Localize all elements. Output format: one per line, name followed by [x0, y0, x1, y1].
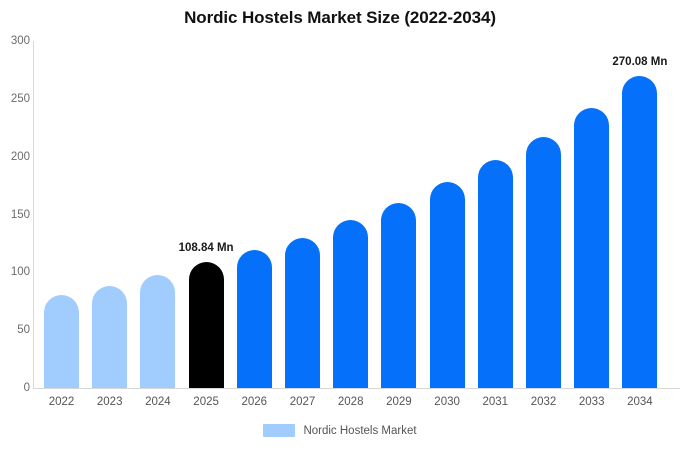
y-axis-tick-label: 100	[4, 266, 30, 278]
bar-2032[interactable]	[526, 137, 561, 388]
legend-swatch-icon	[263, 424, 295, 437]
y-axis-tick-labels: 050100150200250300	[0, 0, 30, 450]
bar-2027[interactable]	[285, 238, 320, 388]
chart-title: Nordic Hostels Market Size (2022-2034)	[0, 8, 680, 28]
x-axis-tick-label-2026: 2026	[237, 396, 272, 408]
legend-item-label: Nordic Hostels Market	[303, 425, 416, 437]
bar-chart: Nordic Hostels Market Size (2022-2034) 0…	[0, 0, 680, 450]
x-axis-tick-label-2028: 2028	[333, 396, 368, 408]
x-axis-tick-label-2027: 2027	[285, 396, 320, 408]
x-axis-tick-label-2032: 2032	[526, 396, 561, 408]
bar-2030[interactable]	[430, 182, 465, 388]
x-axis-tick-label-2024: 2024	[140, 396, 175, 408]
bar-2022[interactable]	[44, 295, 79, 388]
bar-2029[interactable]	[381, 203, 416, 388]
y-axis-tick-label: 200	[4, 151, 30, 163]
bar-2033[interactable]	[574, 108, 609, 388]
x-axis-tick-label-2030: 2030	[430, 396, 465, 408]
plot-area	[33, 41, 680, 388]
data-label-2025: 108.84 Mn	[166, 242, 246, 254]
y-axis-tick-label: 0	[4, 382, 30, 394]
x-axis-tick-label-2031: 2031	[478, 396, 513, 408]
bar-2025[interactable]	[189, 262, 224, 388]
bar-2034[interactable]	[622, 76, 657, 388]
x-axis-tick-label-2029: 2029	[381, 396, 416, 408]
bar-2031[interactable]	[478, 160, 513, 388]
bar-2024[interactable]	[140, 275, 175, 388]
bar-2023[interactable]	[92, 286, 127, 388]
chart-legend: Nordic Hostels Market	[0, 424, 680, 437]
x-axis-tick-label-2022: 2022	[44, 396, 79, 408]
bar-2028[interactable]	[333, 220, 368, 388]
x-axis-tick-label-2025: 2025	[189, 396, 224, 408]
x-axis-tick-label-2033: 2033	[574, 396, 609, 408]
bar-2026[interactable]	[237, 250, 272, 388]
y-axis-tick-label: 250	[4, 93, 30, 105]
y-axis-tick-label: 50	[4, 324, 30, 336]
y-axis-tick-label: 300	[4, 35, 30, 47]
x-axis-line	[33, 388, 680, 389]
x-axis-tick-label-2023: 2023	[92, 396, 127, 408]
data-label-2034: 270.08 Mn	[600, 56, 680, 68]
x-axis-tick-label-2034: 2034	[622, 396, 657, 408]
y-axis-tick-label: 150	[4, 209, 30, 221]
legend-item[interactable]: Nordic Hostels Market	[263, 424, 416, 437]
